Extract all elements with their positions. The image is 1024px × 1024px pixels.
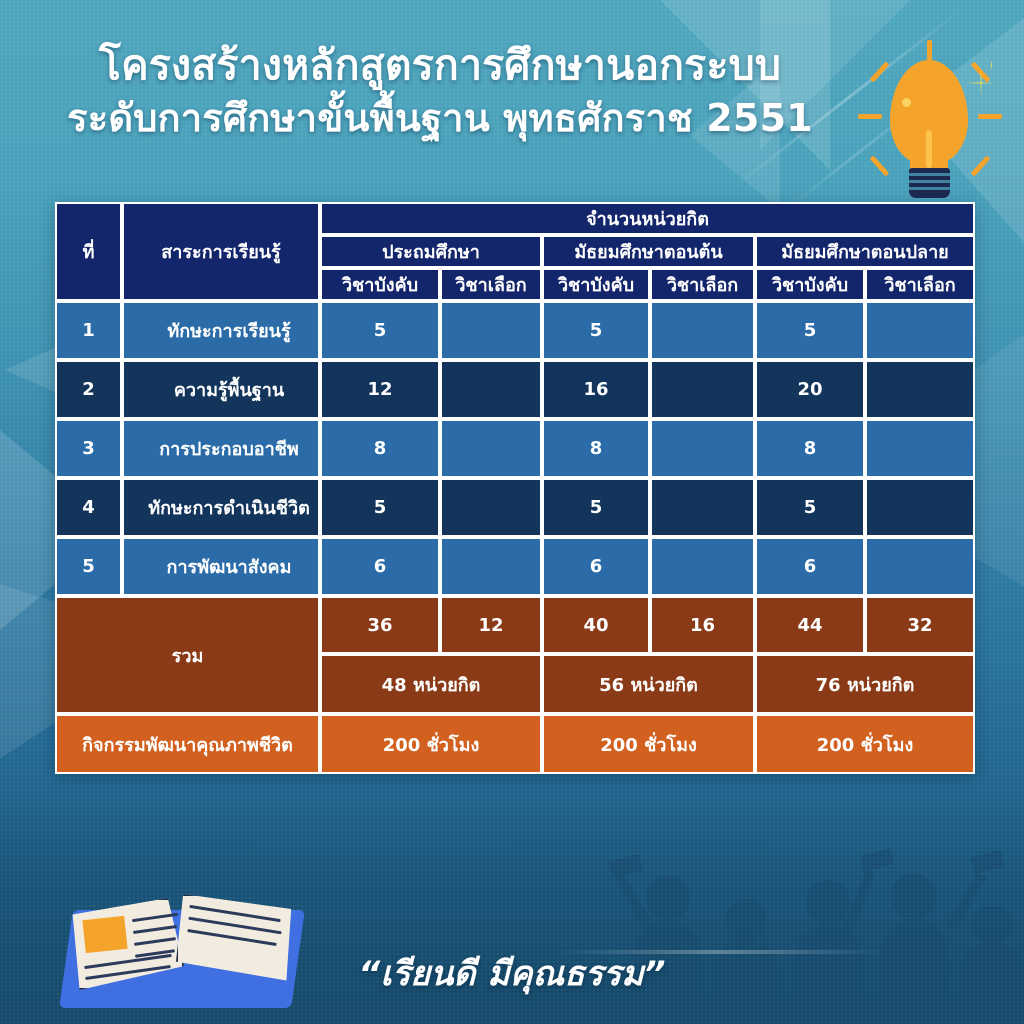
total-label: รวม (55, 596, 320, 714)
total-primary-elective: 12 (440, 596, 542, 654)
cell-primary-elective (440, 301, 542, 360)
row-subject: ความรู้พื้นฐาน (122, 360, 320, 419)
cell-lower-required: 5 (542, 478, 650, 537)
bulb-base (909, 168, 950, 198)
cell-primary-required: 12 (320, 360, 440, 419)
cell-upper-required: 8 (755, 419, 865, 478)
bulb-ray-top (927, 40, 932, 62)
table-row: 3 การประกอบอาชีพ 8 8 8 (55, 419, 975, 478)
cell-lower-required: 16 (542, 360, 650, 419)
col-header-level-lower-secondary: มัธยมศึกษาตอนต้น (542, 235, 755, 268)
row-subject: การประกอบอาชีพ (122, 419, 320, 478)
table-row: 2 ความรู้พื้นฐาน 12 16 20 (55, 360, 975, 419)
table-body: 1 ทักษะการเรียนรู้ 5 5 5 2 ความรู้พื้นฐา… (55, 301, 975, 774)
cell-upper-elective (865, 419, 975, 478)
bulb-highlight (902, 98, 911, 107)
total-credits-lower: 56 หน่วยกิต (542, 654, 755, 714)
cell-upper-required: 5 (755, 478, 865, 537)
col-header-lower-required: วิชาบังคับ (542, 268, 650, 301)
title-block: โครงสร้างหลักสูตรการศึกษานอกระบบ ระดับกา… (0, 38, 880, 144)
col-header-credits: จำนวนหน่วยกิต (320, 202, 975, 235)
cell-primary-required: 8 (320, 419, 440, 478)
cell-upper-required: 5 (755, 301, 865, 360)
row-number: 5 (55, 537, 122, 596)
cell-primary-required: 5 (320, 301, 440, 360)
cell-lower-required: 6 (542, 537, 650, 596)
col-header-upper-elective: วิชาเลือก (865, 268, 975, 301)
bulb-ray-tl (870, 61, 890, 82)
col-header-primary-elective: วิชาเลือก (440, 268, 542, 301)
bulb-sparkle-icon (966, 68, 996, 98)
col-header-primary-required: วิชาบังคับ (320, 268, 440, 301)
cell-primary-elective (440, 419, 542, 478)
bulb-ray-br (971, 155, 991, 176)
total-row: รวม 36 12 40 16 44 32 (55, 596, 975, 654)
total-credits-primary: 48 หน่วยกิต (320, 654, 542, 714)
bulb-ray-bl (870, 155, 890, 176)
cell-lower-required: 5 (542, 301, 650, 360)
activity-row: กิจกรรมพัฒนาคุณภาพชีวิต 200 ชั่วโมง 200 … (55, 714, 975, 774)
col-header-no: ที่ (55, 202, 122, 301)
row-subject: ทักษะการเรียนรู้ (122, 301, 320, 360)
curriculum-structure-table: ที่ สาระการเรียนรู้ จำนวนหน่วยกิต ประถมศ… (55, 202, 975, 774)
table-head: ที่ สาระการเรียนรู้ จำนวนหน่วยกิต ประถมศ… (55, 202, 975, 301)
activity-hours-upper: 200 ชั่วโมง (755, 714, 975, 774)
cell-lower-elective (650, 301, 755, 360)
cell-upper-required: 6 (755, 537, 865, 596)
cell-primary-elective (440, 537, 542, 596)
page-title-line-1: โครงสร้างหลักสูตรการศึกษานอกระบบ (0, 38, 880, 92)
row-number: 2 (55, 360, 122, 419)
bulb-ray-right (978, 114, 1002, 119)
header: โครงสร้างหลักสูตรการศึกษานอกระบบ ระดับกา… (0, 0, 1024, 190)
table-row: 4 ทักษะการดำเนินชีวิต 5 5 5 (55, 478, 975, 537)
lightbulb-icon (862, 42, 1012, 202)
row-subject: ทักษะการดำเนินชีวิต (122, 478, 320, 537)
row-number: 4 (55, 478, 122, 537)
page-title-line-2: ระดับการศึกษาขั้นพื้นฐาน พุทธศักราช 2551 (0, 92, 880, 144)
table-row: 1 ทักษะการเรียนรู้ 5 5 5 (55, 301, 975, 360)
col-header-upper-required: วิชาบังคับ (755, 268, 865, 301)
cell-primary-required: 6 (320, 537, 440, 596)
cell-primary-required: 5 (320, 478, 440, 537)
cell-upper-elective (865, 301, 975, 360)
cell-upper-required: 20 (755, 360, 865, 419)
row-subject: การพัฒนาสังคม (122, 537, 320, 596)
total-upper-required: 44 (755, 596, 865, 654)
total-lower-required: 40 (542, 596, 650, 654)
cell-lower-elective (650, 478, 755, 537)
total-lower-elective: 16 (650, 596, 755, 654)
bulb-ray-left (858, 114, 882, 119)
col-header-level-upper-secondary: มัธยมศึกษาตอนปลาย (755, 235, 975, 268)
row-number: 1 (55, 301, 122, 360)
col-header-level-primary: ประถมศึกษา (320, 235, 542, 268)
activity-hours-lower: 200 ชั่วโมง (542, 714, 755, 774)
total-upper-elective: 32 (865, 596, 975, 654)
cell-primary-elective (440, 360, 542, 419)
bulb-filament (926, 130, 932, 168)
cell-lower-required: 8 (542, 419, 650, 478)
cell-upper-elective (865, 360, 975, 419)
cell-upper-elective (865, 478, 975, 537)
footer-slogan: “เรียนดี มีคุณธรรม” (0, 946, 1024, 1000)
activity-label: กิจกรรมพัฒนาคุณภาพชีวิต (55, 714, 320, 774)
cell-primary-elective (440, 478, 542, 537)
table-header-row-1: ที่ สาระการเรียนรู้ จำนวนหน่วยกิต (55, 202, 975, 235)
row-number: 3 (55, 419, 122, 478)
cell-lower-elective (650, 419, 755, 478)
total-credits-upper: 76 หน่วยกิต (755, 654, 975, 714)
total-primary-required: 36 (320, 596, 440, 654)
col-header-subject: สาระการเรียนรู้ (122, 202, 320, 301)
table-row: 5 การพัฒนาสังคม 6 6 6 (55, 537, 975, 596)
cell-lower-elective (650, 537, 755, 596)
activity-hours-primary: 200 ชั่วโมง (320, 714, 542, 774)
cell-lower-elective (650, 360, 755, 419)
col-header-lower-elective: วิชาเลือก (650, 268, 755, 301)
cell-upper-elective (865, 537, 975, 596)
